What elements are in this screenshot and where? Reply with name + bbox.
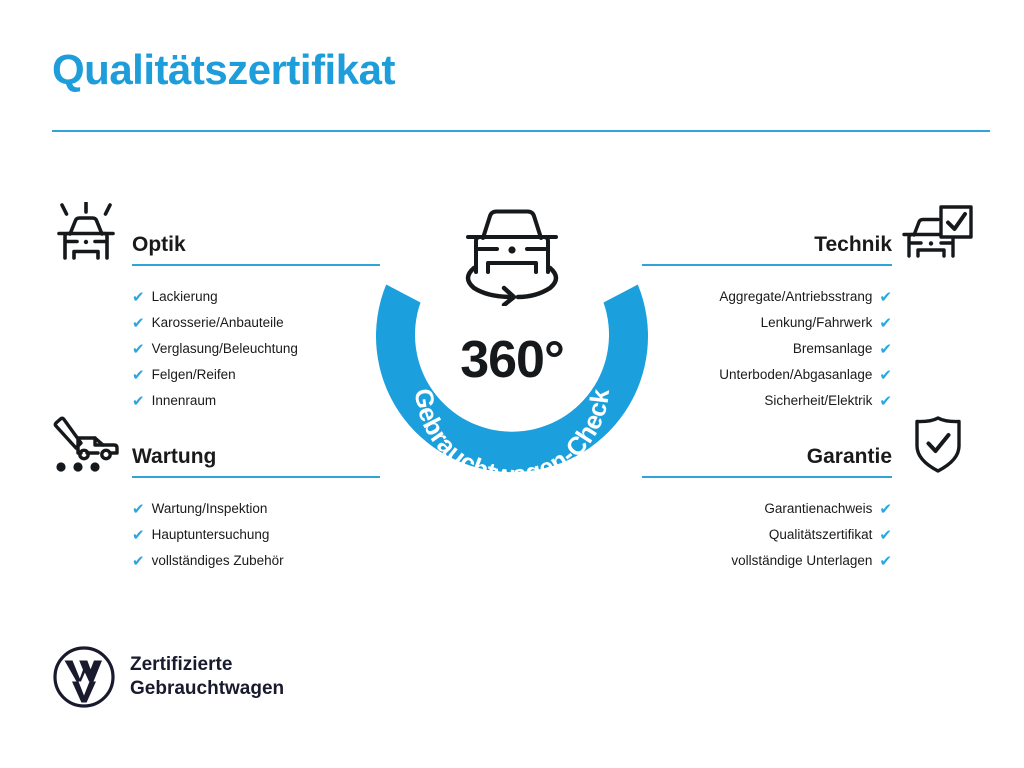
section-garantie-header: Garantie xyxy=(642,410,976,486)
list-item-label: vollständiges Zubehör xyxy=(152,554,284,568)
list-item: Qualitätszertifikat✔ xyxy=(642,522,976,548)
list-item: ✔vollständiges Zubehör xyxy=(132,548,380,574)
footer-line-2: Gebrauchtwagen xyxy=(130,677,284,701)
list-item-label: vollständige Unterlagen xyxy=(731,554,872,568)
list-item: ✔Verglasung/Beleuchtung xyxy=(132,336,380,362)
list-item: Unterboden/Abgasanlage✔ xyxy=(642,362,976,388)
section-technik-titlewrap: Technik xyxy=(642,234,892,266)
page-header: Qualitätszertifikat xyxy=(52,48,992,132)
section-optik: Optik ✔Lackierung ✔Karosserie/Anbauteile… xyxy=(48,198,380,414)
section-garantie-titlewrap: Garantie xyxy=(642,446,892,478)
check-icon: ✔ xyxy=(879,290,892,305)
list-item-label: Karosserie/Anbauteile xyxy=(152,316,284,330)
list-item: Lenkung/Fahrwerk✔ xyxy=(642,310,976,336)
vw-logo xyxy=(52,645,116,709)
list-item-label: Unterboden/Abgasanlage xyxy=(719,368,872,382)
page-title: Qualitätszertifikat xyxy=(52,48,992,92)
section-technik-header: Technik xyxy=(642,198,976,274)
list-item-label: Qualitätszertifikat xyxy=(769,528,873,542)
check-icon: ✔ xyxy=(132,554,145,569)
section-technik: Technik Aggregate/Antriebsstrang✔ Lenkun… xyxy=(642,198,976,414)
check-icon: ✔ xyxy=(132,528,145,543)
qualitaetszertifikat-page: Qualitätszertifikat xyxy=(0,0,1024,768)
list-item-label: Felgen/Reifen xyxy=(152,368,236,382)
car-service-tool-icon xyxy=(48,414,124,476)
list-item: Garantienachweis✔ xyxy=(642,496,976,522)
check-icon: ✔ xyxy=(879,502,892,517)
list-item-label: Innenraum xyxy=(152,394,217,408)
check-icon: ✔ xyxy=(879,316,892,331)
section-wartung-titlewrap: Wartung xyxy=(132,446,380,478)
check-icon: ✔ xyxy=(879,342,892,357)
list-item: ✔Lackierung xyxy=(132,284,380,310)
section-technik-list: Aggregate/Antriebsstrang✔ Lenkung/Fahrwe… xyxy=(642,284,976,414)
section-garantie-title: Garantie xyxy=(642,446,892,467)
list-item: Bremsanlage✔ xyxy=(642,336,976,362)
check-icon: ✔ xyxy=(132,394,145,409)
section-wartung-divider xyxy=(132,476,380,478)
section-garantie-divider xyxy=(642,476,892,478)
section-wartung-header: Wartung xyxy=(48,410,380,486)
list-item-label: Bremsanlage xyxy=(793,342,873,356)
section-wartung: Wartung ✔Wartung/Inspektion ✔Hauptunters… xyxy=(48,410,380,574)
badge-360-gebrauchtwagen-check: Gebrauchtwagen-Check 360° xyxy=(372,196,652,496)
car-checkbox-icon xyxy=(900,202,976,264)
list-item: ✔Wartung/Inspektion xyxy=(132,496,380,522)
footer-vw-branding: Zertifizierte Gebrauchtwagen xyxy=(52,645,284,709)
section-optik-divider xyxy=(132,264,380,266)
list-item-label: Sicherheit/Elektrik xyxy=(764,394,872,408)
section-optik-titlewrap: Optik xyxy=(132,234,380,266)
check-icon: ✔ xyxy=(132,316,145,331)
check-icon: ✔ xyxy=(132,368,145,383)
check-icon: ✔ xyxy=(879,394,892,409)
section-technik-divider xyxy=(642,264,892,266)
section-optik-header: Optik xyxy=(48,198,380,274)
check-icon: ✔ xyxy=(132,290,145,305)
section-wartung-title: Wartung xyxy=(132,446,380,467)
list-item-label: Hauptuntersuchung xyxy=(152,528,270,542)
list-item: Aggregate/Antriebsstrang✔ xyxy=(642,284,976,310)
section-optik-list: ✔Lackierung ✔Karosserie/Anbauteile ✔Verg… xyxy=(48,284,380,414)
list-item: ✔Hauptuntersuchung xyxy=(132,522,380,548)
list-item-label: Lenkung/Fahrwerk xyxy=(761,316,873,330)
section-optik-title: Optik xyxy=(132,234,380,255)
list-item-label: Aggregate/Antriebsstrang xyxy=(719,290,872,304)
badge-center-label: 360° xyxy=(372,334,652,386)
shield-check-icon xyxy=(900,414,976,476)
check-icon: ✔ xyxy=(132,502,145,517)
list-item-label: Verglasung/Beleuchtung xyxy=(152,342,298,356)
list-item-label: Garantienachweis xyxy=(764,502,872,516)
list-item: vollständige Unterlagen✔ xyxy=(642,548,976,574)
list-item-label: Lackierung xyxy=(152,290,218,304)
section-garantie: Garantie Garantienachweis✔ Qualitätszert… xyxy=(642,410,976,574)
footer-line-1: Zertifizierte xyxy=(130,653,284,677)
section-garantie-list: Garantienachweis✔ Qualitätszertifikat✔ v… xyxy=(642,496,976,574)
section-wartung-list: ✔Wartung/Inspektion ✔Hauptuntersuchung ✔… xyxy=(48,496,380,574)
check-icon: ✔ xyxy=(879,368,892,383)
list-item: ✔Felgen/Reifen xyxy=(132,362,380,388)
check-icon: ✔ xyxy=(879,554,892,569)
check-icon: ✔ xyxy=(132,342,145,357)
list-item: ✔Karosserie/Anbauteile xyxy=(132,310,380,336)
check-icon: ✔ xyxy=(879,528,892,543)
header-divider xyxy=(52,130,990,132)
footer-text: Zertifizierte Gebrauchtwagen xyxy=(130,653,284,701)
section-technik-title: Technik xyxy=(642,234,892,255)
list-item-label: Wartung/Inspektion xyxy=(152,502,268,516)
car-shine-icon xyxy=(48,202,124,264)
